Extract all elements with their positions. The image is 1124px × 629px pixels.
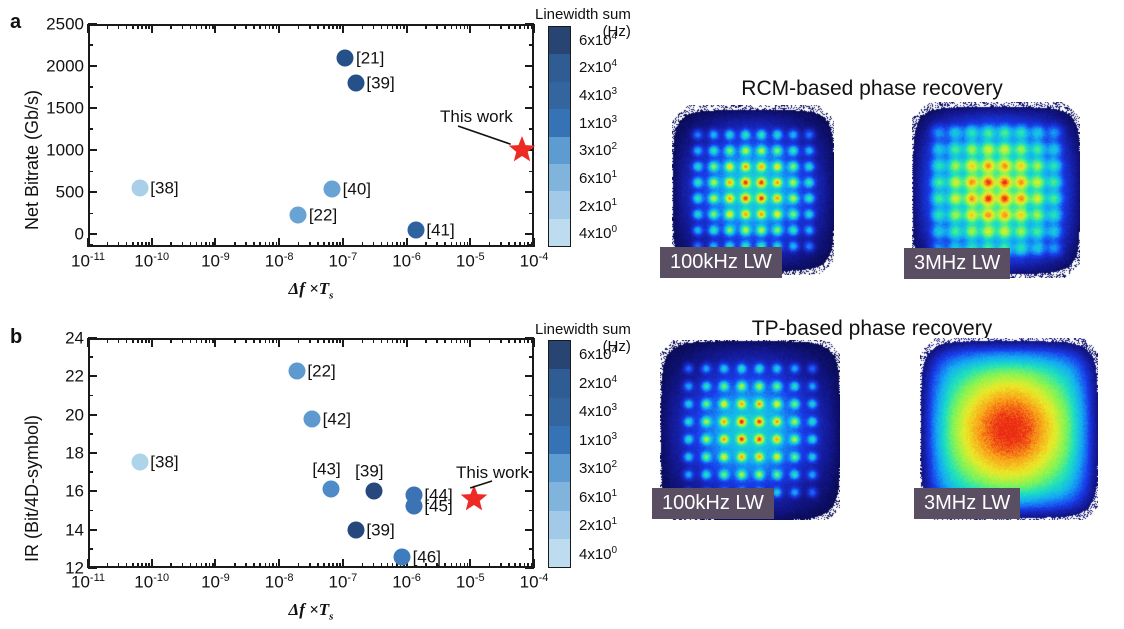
panel-a-xtick-minor: [145, 24, 147, 29]
panel-b-xtick-minor: [508, 338, 510, 343]
panel-a-xtick-minor: [456, 24, 458, 29]
panel-a-xtick-minor: [339, 242, 341, 247]
panel-b-xtick-minor: [451, 563, 453, 568]
panel-a-xtick-minor: [403, 242, 405, 247]
panel-b-data-point-label: [39]: [366, 521, 394, 538]
panel-b-ytick: [88, 452, 97, 454]
panel-b-data-point: [366, 483, 383, 500]
panel-a-xtick-minor: [272, 24, 274, 29]
panel-a-xtick-minor: [381, 242, 383, 247]
panel-a-colorbar-tick-label: 4x103: [579, 87, 617, 103]
panel-b-y-tick-label: 18: [65, 445, 84, 462]
panel-a-x-tick-label: 10-10: [134, 252, 169, 270]
panel-a-xtick-major: [87, 24, 89, 33]
panel-a-xtick-minor: [436, 242, 438, 247]
panel-b-xtick-minor: [148, 563, 150, 568]
panel-b-xtick-major: [214, 338, 216, 347]
panel-a-xtick-minor: [276, 242, 278, 247]
panel-a-ytick: [525, 107, 534, 109]
panel-a-ytick-minor: [529, 44, 534, 46]
panel-b-xtick-minor: [400, 338, 402, 343]
panel-b-xtick-minor: [362, 338, 364, 343]
panel-a-xtick-minor: [107, 242, 109, 247]
panel-b-xtick-minor: [451, 338, 453, 343]
panel-b-xtick-minor: [317, 563, 319, 568]
panel-a-xtick-minor: [392, 24, 394, 29]
panel-b-xtick-minor: [265, 563, 267, 568]
panel-a-xtick-major: [533, 238, 535, 247]
panel-a-xtick-minor: [460, 242, 462, 247]
panel-b-colorbar-tick-label: 6x101: [579, 489, 617, 505]
panel-a-xtick-minor: [276, 24, 278, 29]
panel-b-xtick-major: [151, 559, 153, 568]
panel-a-x-axis-title: Δf ×Ts: [289, 279, 334, 301]
panel-b-colorbar-tick-label: 2x104: [579, 375, 617, 391]
panel-a-xtick-minor: [339, 24, 341, 29]
panel-b-xtick-major: [151, 338, 153, 347]
panel-b-colorbar-tick-label: 2x101: [579, 517, 617, 533]
panel-a-xtick-minor: [467, 242, 469, 247]
panel-b-ytick: [88, 567, 97, 569]
panel-b-data-point-label: [46]: [413, 549, 441, 566]
panel-b-ytick: [525, 490, 534, 492]
panel-a-xtick-minor: [425, 24, 427, 29]
panel-b-data-point-label: [43]: [312, 461, 340, 478]
panel-a-ytick-minor: [88, 86, 93, 88]
panel-a-this-work-annotation: This work: [440, 108, 513, 125]
panel-b-xtick-minor: [205, 563, 207, 568]
panel-a-x-tick-label: 10-7: [328, 252, 357, 270]
panel-a-y-tick-label: 500: [56, 184, 84, 201]
panel-b-y-axis-title: IR (Bit/4D-symbol): [22, 415, 43, 562]
panel-a-xtick-minor: [309, 242, 311, 247]
panel-b-xtick-minor: [444, 563, 446, 568]
panel-b-xtick-minor: [489, 338, 491, 343]
panel-a-xtick-minor: [467, 24, 469, 29]
panel-b-ytick-minor: [88, 433, 93, 435]
panel-b-xtick-minor: [276, 338, 278, 343]
panel-a-xtick-minor: [332, 242, 334, 247]
panel-b-xtick-minor: [209, 563, 211, 568]
panel-a-x-tick-label: 10-5: [456, 252, 485, 270]
panel-b-xtick-minor: [234, 338, 236, 343]
panel-b-data-point: [347, 521, 364, 538]
panel-a-xtick-minor: [272, 242, 274, 247]
panel-a-x-tick-label: 10-9: [201, 252, 230, 270]
panel-a-xtick-minor: [460, 24, 462, 29]
panel-a-ytick-minor: [529, 128, 534, 130]
panel-a-data-point-label: [41]: [426, 221, 454, 238]
constellation-tp-100khz: 100kHz LW: [660, 340, 840, 520]
panel-b-ytick-minor: [529, 548, 534, 550]
panel-b-xtick-minor: [362, 563, 364, 568]
panel-a-colorbar-segment: [549, 164, 570, 191]
panel-b-xtick-minor: [259, 563, 261, 568]
constellation-badge: 3MHz LW: [904, 248, 1010, 279]
panel-b-ytick: [525, 337, 534, 339]
panel-b-ytick-minor: [529, 395, 534, 397]
panel-b-data-point: [405, 497, 422, 514]
panel-a-xtick-minor: [253, 242, 255, 247]
panel-a-xtick-minor: [328, 242, 330, 247]
panel-b-xtick-minor: [107, 338, 109, 343]
panel-b-xtick-minor: [245, 563, 247, 568]
panel-a-x-tick-label: 10-6: [392, 252, 421, 270]
panel-a-xtick-minor: [309, 24, 311, 29]
panel-b-colorbar-tick-label: 4x103: [579, 403, 617, 419]
panel-b-xtick-minor: [456, 563, 458, 568]
panel-b-xtick-minor: [201, 338, 203, 343]
panel-a-xtick-minor: [107, 24, 109, 29]
panel-a-xtick-minor: [464, 242, 466, 247]
constellation-badge: 100kHz LW: [652, 488, 774, 519]
panel-a-ytick: [88, 23, 97, 25]
panel-a-xtick-minor: [212, 242, 214, 247]
panel-b-y-tick-label: 24: [65, 330, 84, 347]
panel-b-ytick: [525, 452, 534, 454]
panel-a-colorbar-tick-label: 6x101: [579, 170, 617, 186]
panel-a-ytick-minor: [88, 128, 93, 130]
panel-b-colorbar-segment: [549, 482, 570, 510]
panel-a-xtick-minor: [209, 242, 211, 247]
panel-a-xtick-minor: [519, 242, 521, 247]
panel-b-colorbar-tick-label: 3x102: [579, 460, 617, 476]
panel-a-y-axis-title: Net Bitrate (Gb/s): [22, 90, 43, 230]
panel-a-xtick-minor: [201, 242, 203, 247]
panel-a-colorbar-segment: [549, 82, 570, 109]
panel-b-ytick-minor: [88, 395, 93, 397]
panel-b-xtick-minor: [212, 338, 214, 343]
panel-a-xtick-minor: [425, 242, 427, 247]
panel-b-data-point-label: [38]: [150, 453, 178, 470]
panel-a-xtick-minor: [456, 242, 458, 247]
panel-a-xtick-minor: [259, 24, 261, 29]
panel-b-xtick-minor: [467, 338, 469, 343]
panel-b-ytick: [525, 375, 534, 377]
panel-b-x-axis-title: Δf ×Ts: [289, 600, 334, 622]
panel-a-data-point-label: [38]: [150, 180, 178, 197]
panel-b-xtick-minor: [332, 338, 334, 343]
panel-b-xtick-minor: [436, 338, 438, 343]
panel-a-xtick-major: [151, 238, 153, 247]
panel-b-xtick-minor: [253, 338, 255, 343]
panel-b-data-point: [304, 411, 321, 428]
panel-b-x-tick-label: 10-9: [201, 573, 230, 591]
panel-a-xtick-minor: [387, 24, 389, 29]
panel-a-data-point: [337, 49, 354, 66]
panel-a-xtick-minor: [118, 24, 120, 29]
panel-b-xtick-minor: [514, 338, 516, 343]
panel-b-x-axis-title-sub: s: [329, 610, 333, 622]
panel-b-xtick-minor: [234, 563, 236, 568]
panel-a-ytick-minor: [529, 213, 534, 215]
panel-b-xtick-minor: [514, 563, 516, 568]
panel-b-xtick-minor: [456, 338, 458, 343]
panel-a-xtick-major: [406, 238, 408, 247]
panel-b-colorbar-segment: [549, 426, 570, 454]
panel-b-colorbar-tick-label: 6x104: [579, 346, 617, 362]
panel-a-xtick-minor: [396, 242, 398, 247]
panel-b-xtick-minor: [444, 338, 446, 343]
panel-b-xtick-minor: [381, 338, 383, 343]
panel-b-xtick-minor: [265, 338, 267, 343]
panel-a-xtick-minor: [451, 242, 453, 247]
panel-b-xtick-minor: [464, 563, 466, 568]
panel-b-xtick-major: [469, 338, 471, 347]
panel-a-xtick-minor: [387, 242, 389, 247]
panel-a-x-tick-label: 10-4: [520, 252, 549, 270]
panel-a-xtick-minor: [451, 24, 453, 29]
panel-a-xtick-minor: [148, 242, 150, 247]
panel-a-colorbar-segment: [549, 54, 570, 81]
panel-a-colorbar-segment: [549, 191, 570, 218]
panel-a-xtick-minor: [323, 24, 325, 29]
panel-b-xtick-minor: [141, 563, 143, 568]
panel-b-xtick-minor: [387, 338, 389, 343]
panel-a-xtick-minor: [196, 242, 198, 247]
panel-b-xtick-minor: [328, 338, 330, 343]
panel-a-ytick: [525, 233, 534, 235]
panel-a-xtick-major: [342, 24, 344, 33]
constellation-badge: 100kHz LW: [660, 247, 782, 278]
panel-a-ytick-minor: [88, 213, 93, 215]
panel-b-xtick-minor: [269, 338, 271, 343]
panel-b-xtick-minor: [253, 563, 255, 568]
panel-a-xtick-minor: [212, 24, 214, 29]
panel-a-xtick-minor: [265, 242, 267, 247]
panel-a-xtick-minor: [182, 242, 184, 247]
panel-a-xtick-minor: [269, 242, 271, 247]
panel-b-xtick-minor: [392, 563, 394, 568]
panel-b-colorbar-segment: [549, 369, 570, 397]
panel-b-ytick: [525, 529, 534, 531]
panel-b-xtick-minor: [190, 563, 192, 568]
panel-a-colorbar-tick-label: 2x104: [579, 59, 617, 75]
panel-b-xtick-minor: [272, 563, 274, 568]
panel-b-colorbar-segment: [549, 511, 570, 539]
panel-a-xtick-minor: [396, 24, 398, 29]
panel-b-ytick: [88, 529, 97, 531]
panel-b-xtick-minor: [519, 563, 521, 568]
panel-b-xtick-minor: [464, 338, 466, 343]
panel-a-xtick-minor: [209, 24, 211, 29]
panel-b-xtick-minor: [332, 563, 334, 568]
panel-b-xtick-major: [342, 338, 344, 347]
panel-b-xtick-minor: [500, 338, 502, 343]
panel-b-data-point-label: [22]: [307, 362, 335, 379]
panel-b-xtick-minor: [170, 338, 172, 343]
panel-a-xtick-minor: [259, 242, 261, 247]
panel-b-x-tick-label: 10-7: [328, 573, 357, 591]
panel-a-xtick-minor: [201, 24, 203, 29]
panel-a-y-tick-label: 0: [75, 226, 84, 243]
panel-b-ytick-minor: [88, 548, 93, 550]
panel-b-xtick-minor: [323, 338, 325, 343]
panel-b-colorbar-tick-label: 1x103: [579, 432, 617, 448]
panel-a-colorbar: [548, 26, 571, 247]
panel-a-xtick-major: [214, 24, 216, 33]
panel-b-xtick-minor: [269, 563, 271, 568]
panel-b-ytick: [525, 414, 534, 416]
panel-b-x-axis-title-main: Δf ×T: [289, 600, 330, 619]
panel-b-xtick-minor: [403, 338, 405, 343]
panel-a-xtick-minor: [500, 242, 502, 247]
panel-b-data-point-label: [42]: [323, 411, 351, 428]
panel-b-xtick-minor: [145, 338, 147, 343]
panel-b-xtick-minor: [373, 563, 375, 568]
panel-b-data-point: [288, 362, 305, 379]
panel-a-xtick-minor: [403, 24, 405, 29]
panel-b-xtick-minor: [118, 338, 120, 343]
panel-b-xtick-minor: [272, 338, 274, 343]
panel-b-ytick: [88, 490, 97, 492]
panel-a-xtick-major: [151, 24, 153, 33]
panel-a-xtick-minor: [519, 24, 521, 29]
panel-a-xtick-minor: [514, 242, 516, 247]
panel-b-ytick-minor: [88, 510, 93, 512]
panel-a-xtick-major: [342, 238, 344, 247]
panel-b-xtick-minor: [137, 563, 139, 568]
panel-b-xtick-minor: [126, 338, 128, 343]
panel-b-xtick-minor: [392, 338, 394, 343]
panel-a-colorbar-segment: [549, 219, 570, 246]
panel-b-data-point: [323, 481, 340, 498]
panel-a-xtick-minor: [524, 242, 526, 247]
panel-a-xtick-minor: [400, 24, 402, 29]
panel-a-xtick-minor: [381, 24, 383, 29]
panel-b-xtick-minor: [336, 338, 338, 343]
panel-a-xtick-minor: [196, 24, 198, 29]
panel-a-xtick-minor: [141, 24, 143, 29]
panel-a-colorbar-segment: [549, 137, 570, 164]
panel-b-x-tick-label: 10-4: [520, 573, 549, 591]
panel-b-this-work-annotation: This work: [456, 464, 529, 481]
panel-a-xtick-minor: [132, 24, 134, 29]
panel-b-xtick-minor: [508, 563, 510, 568]
panel-a-data-point: [347, 74, 364, 91]
panel-a-xtick-minor: [489, 242, 491, 247]
panel-a-ytick-minor: [529, 244, 534, 246]
panel-b-data-point-label: [45]: [424, 497, 452, 514]
constellation-tp-3mhz: 3MHz LW: [920, 338, 1098, 520]
panel-a-xtick-major: [278, 24, 280, 33]
panel-b-xtick-minor: [148, 338, 150, 343]
panel-a-data-point-label: [22]: [309, 207, 337, 224]
panel-b-xtick-minor: [141, 338, 143, 343]
panel-b-colorbar-tick-label: 4x100: [579, 546, 617, 562]
panel-b-ytick-minor: [88, 471, 93, 473]
panel-a-x-tick-label: 10-8: [265, 252, 294, 270]
panel-a-x-tick-label: 10-11: [71, 252, 105, 270]
panel-b-y-tick-label: 12: [65, 560, 84, 577]
panel-b-xtick-minor: [276, 563, 278, 568]
panel-a-ytick-minor: [529, 86, 534, 88]
panel-b-x-tick-label: 10-6: [392, 573, 421, 591]
panel-a-xtick-minor: [362, 24, 364, 29]
panel-b-colorbar-segment: [549, 454, 570, 482]
panel-a-xtick-minor: [205, 242, 207, 247]
panel-b-xtick-minor: [460, 338, 462, 343]
panel-b-ytick-minor: [529, 510, 534, 512]
panel-a-xtick-minor: [190, 242, 192, 247]
panel-a-xtick-minor: [373, 242, 375, 247]
panel-a-xtick-minor: [269, 24, 271, 29]
panel-b-xtick-minor: [137, 338, 139, 343]
panel-b-xtick-minor: [460, 563, 462, 568]
panel-a-xtick-major: [214, 238, 216, 247]
panel-a-data-point-label: [40]: [343, 180, 371, 197]
panel-a-xtick-minor: [148, 24, 150, 29]
panel-a-xtick-minor: [118, 242, 120, 247]
constellation-title-bottom: TP-based phase recovery: [752, 318, 992, 339]
panel-b-xtick-minor: [209, 338, 211, 343]
panel-a-xtick-minor: [336, 24, 338, 29]
panel-a-xtick-minor: [400, 242, 402, 247]
panel-a-ytick: [525, 65, 534, 67]
panel-b-xtick-minor: [190, 338, 192, 343]
panel-b-xtick-minor: [145, 563, 147, 568]
panel-a-y-tick-label: 1500: [46, 100, 84, 117]
panel-a-xtick-minor: [245, 24, 247, 29]
panel-b-x-tick-label: 10-5: [456, 573, 485, 591]
panel-a-colorbar-tick-label: 1x103: [579, 115, 617, 131]
panel-a-ytick: [88, 191, 97, 193]
panel-b-xtick-major: [278, 559, 280, 568]
panel-a-xtick-minor: [444, 242, 446, 247]
panel-b-y-tick-label: 20: [65, 406, 84, 423]
panel-b-xtick-minor: [107, 563, 109, 568]
panel-b-letter: b: [10, 327, 22, 347]
panel-b-ytick: [88, 414, 97, 416]
panel-b-xtick-minor: [182, 338, 184, 343]
panel-b-xtick-minor: [317, 338, 319, 343]
panel-a-xtick-minor: [137, 24, 139, 29]
panel-b-xtick-minor: [328, 563, 330, 568]
panel-a-xtick-minor: [145, 242, 147, 247]
panel-a-xtick-major: [469, 24, 471, 33]
panel-a-ytick: [525, 191, 534, 193]
panel-b-colorbar-segment: [549, 398, 570, 426]
panel-a-data-point-label: [39]: [366, 74, 394, 91]
panel-a-xtick-minor: [126, 24, 128, 29]
panel-a-xtick-minor: [328, 24, 330, 29]
panel-b-xtick-minor: [245, 338, 247, 343]
panel-a-y-tick-label: 2000: [46, 58, 84, 75]
panel-b-xtick-minor: [339, 338, 341, 343]
panel-b-xtick-major: [87, 338, 89, 347]
panel-a-xtick-minor: [489, 24, 491, 29]
panel-a-xtick-major: [406, 24, 408, 33]
panel-a-xtick-minor: [170, 24, 172, 29]
panel-b-xtick-minor: [298, 338, 300, 343]
panel-b-xtick-minor: [323, 563, 325, 568]
panel-a-data-point: [290, 207, 307, 224]
panel-a-ytick-minor: [88, 171, 93, 173]
panel-a-xtick-major: [87, 238, 89, 247]
panel-b-ytick-minor: [529, 356, 534, 358]
panel-a-xtick-minor: [514, 24, 516, 29]
panel-a-xtick-minor: [234, 242, 236, 247]
panel-b-xtick-minor: [489, 563, 491, 568]
panel-b-colorbar-title-line1: Linewidth sum: [535, 321, 631, 338]
panel-b-xtick-major: [278, 338, 280, 347]
panel-a-data-point: [131, 180, 148, 197]
panel-a-xtick-minor: [126, 242, 128, 247]
panel-b-ytick: [525, 567, 534, 569]
panel-b-ytick-minor: [529, 471, 534, 473]
panel-b-xtick-minor: [309, 338, 311, 343]
constellation-rcm-3mhz: 3MHz LW: [912, 102, 1080, 278]
